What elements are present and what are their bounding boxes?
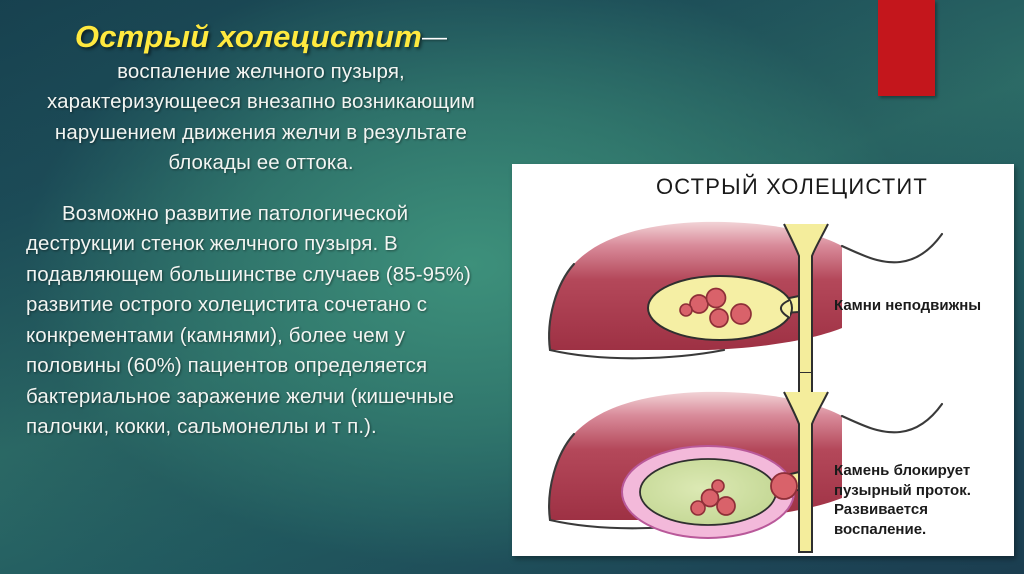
definition-text: воспаление желчного пузыря, характеризую… — [47, 60, 475, 175]
title-dash: — — [422, 23, 447, 51]
caption-stone-blocks-duct: Камень блокирует пузырный проток. Развив… — [834, 461, 971, 539]
text-column: Острый холецистит— воспаление желчного п… — [26, 22, 496, 443]
slide-canvas: Острый холецистит— воспаление желчного п… — [0, 0, 1024, 574]
body-paragraph-2: Возможно развитие патологической деструк… — [26, 199, 496, 443]
gallbladder-top — [648, 276, 792, 340]
illustration-panel: ОСТРЫЙ ХОЛЕЦИСТИТ — [512, 164, 1014, 556]
blocking-stone — [771, 473, 797, 499]
red-accent-block — [878, 0, 935, 96]
definition-paragraph: Острый холецистит— воспаление желчного п… — [26, 22, 496, 179]
page-title: Острый холецистит — [75, 19, 422, 54]
bile-duct-bottom — [799, 372, 812, 394]
figure-top-normal-gallbladder — [512, 200, 1014, 380]
figure-title: ОСТРЫЙ ХОЛЕЦИСТИТ — [512, 174, 1014, 200]
caption-stones-mobile: Камни неподвижны — [834, 296, 981, 316]
